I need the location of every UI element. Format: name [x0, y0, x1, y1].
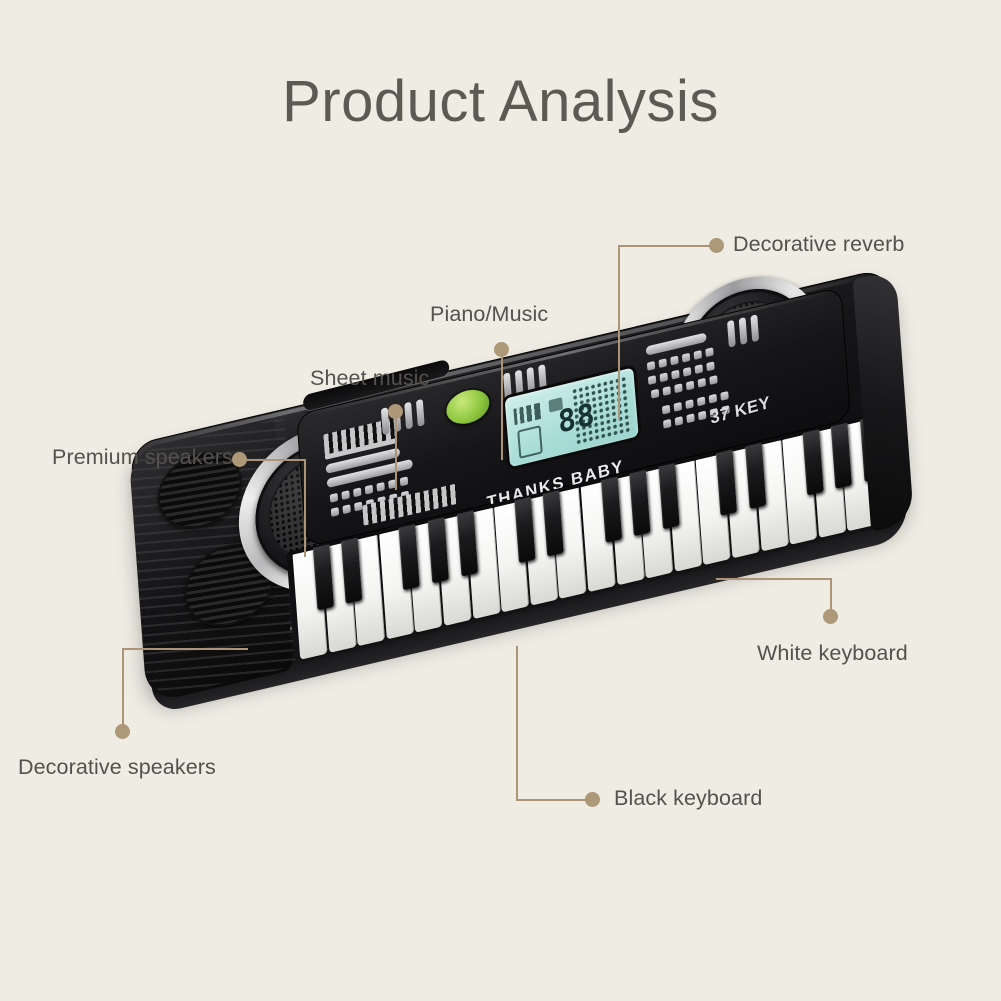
callout-line-decorative-speakers-v: [122, 648, 124, 728]
callout-line-black-keyboard-v: [516, 646, 518, 800]
callout-line-white-keyboard-h: [716, 578, 832, 580]
callout-label-decorative-speakers: Decorative speakers: [18, 755, 216, 780]
callout-label-black-keyboard: Black keyboard: [614, 786, 762, 811]
callout-line-decorative-speakers-h: [122, 648, 248, 650]
callout-line-piano-music: [501, 350, 503, 460]
callout-label-sheet-music: Sheet music: [310, 366, 429, 391]
infographic-canvas: Product Analysis: [0, 0, 1001, 1001]
callout-line-black-keyboard-h: [516, 799, 588, 801]
lcd-mode-icon: [517, 425, 543, 459]
callout-line-premium-speakers-h: [245, 459, 305, 461]
product-photo: 88 THANKS BABY 37 KE: [90, 300, 910, 880]
callout-label-white-keyboard: White keyboard: [757, 641, 908, 666]
page-title: Product Analysis: [0, 68, 1001, 135]
callout-line-premium-speakers-v: [304, 459, 306, 557]
lcd-level-bars: [513, 401, 547, 425]
callout-label-piano-music: Piano/Music: [430, 302, 548, 327]
callout-line-decorative-reverb-h: [618, 245, 712, 247]
electronic-keyboard: 88 THANKS BABY 37 KE: [130, 267, 914, 778]
callout-line-white-keyboard-v: [830, 578, 832, 612]
callout-line-sheet-music: [395, 412, 397, 490]
callout-label-premium-speakers: Premium speakers: [52, 445, 233, 470]
callout-label-decorative-reverb: Decorative reverb: [733, 232, 904, 257]
lcd-dot-matrix: [571, 375, 632, 445]
callout-line-decorative-reverb-v: [618, 245, 620, 420]
